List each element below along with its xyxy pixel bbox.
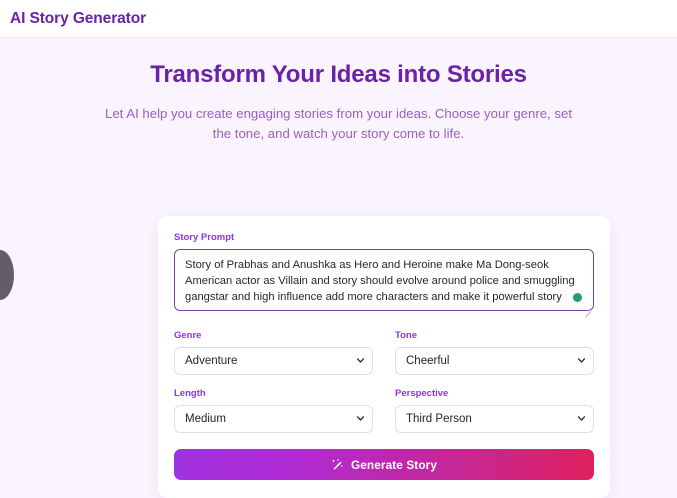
perspective-label: Perspective bbox=[395, 388, 594, 399]
perspective-select[interactable]: Third Person bbox=[395, 405, 594, 433]
hero-section: Transform Your Ideas into Stories Let AI… bbox=[0, 60, 677, 145]
story-form-card: Story Prompt Genre Adventure bbox=[158, 216, 610, 498]
page-body: Transform Your Ideas into Stories Let AI… bbox=[0, 38, 677, 473]
genre-label: Genre bbox=[174, 330, 373, 341]
tone-select[interactable]: Cheerful bbox=[395, 347, 594, 375]
story-prompt-input[interactable] bbox=[174, 249, 594, 311]
genre-field: Genre Adventure bbox=[174, 330, 373, 375]
story-prompt-wrapper bbox=[174, 249, 594, 316]
app-header: AI Story Generator bbox=[0, 0, 677, 38]
story-prompt-label: Story Prompt bbox=[174, 232, 594, 243]
perspective-select-shell: Third Person bbox=[395, 405, 594, 433]
app-title: AI Story Generator bbox=[10, 10, 146, 28]
tone-field: Tone Cheerful bbox=[395, 330, 594, 375]
options-row-1: Genre Adventure Tone Cheerful bbox=[174, 330, 594, 375]
genre-select-shell: Adventure bbox=[174, 347, 373, 375]
perspective-field: Perspective Third Person bbox=[395, 388, 594, 433]
length-label: Length bbox=[174, 388, 373, 399]
options-row-2: Length Medium Perspective Third Person bbox=[174, 388, 594, 433]
tone-select-shell: Cheerful bbox=[395, 347, 594, 375]
generate-story-button[interactable]: Generate Story bbox=[174, 449, 594, 480]
tone-label: Tone bbox=[395, 330, 594, 341]
length-select-shell: Medium bbox=[174, 405, 373, 433]
length-select[interactable]: Medium bbox=[174, 405, 373, 433]
genre-select[interactable]: Adventure bbox=[174, 347, 373, 375]
magic-wand-icon bbox=[331, 458, 344, 471]
page-title: Transform Your Ideas into Stories bbox=[0, 60, 677, 90]
decorative-orb bbox=[0, 250, 14, 300]
generate-story-label: Generate Story bbox=[351, 458, 437, 472]
status-indicator-dot bbox=[573, 293, 582, 302]
page-subtitle: Let AI help you create engaging stories … bbox=[104, 104, 574, 145]
story-prompt-field: Story Prompt bbox=[174, 232, 594, 316]
length-field: Length Medium bbox=[174, 388, 373, 433]
